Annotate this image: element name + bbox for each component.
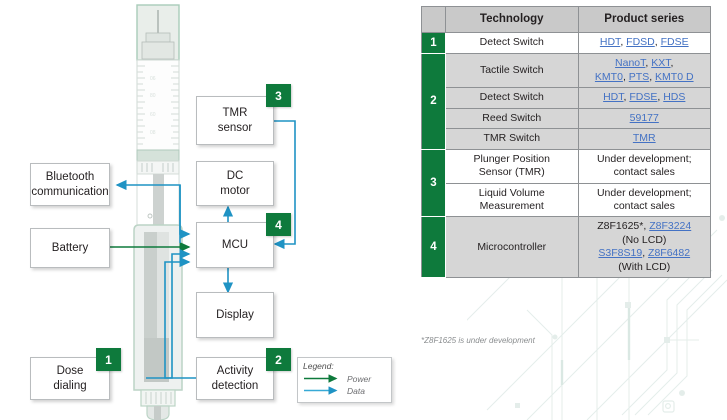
- product-link[interactable]: HDT: [600, 36, 620, 48]
- legend-title: Legend:: [303, 362, 386, 371]
- block-bluetooth-line1: Bluetooth: [31, 170, 108, 184]
- block-dc-motor[interactable]: DC motor: [196, 161, 274, 206]
- system-block-diagram: 0680 6008: [0, 0, 410, 420]
- block-activity-line1: Activity: [212, 364, 259, 378]
- product-link[interactable]: PTS: [629, 71, 649, 83]
- legend-label-power: Power: [347, 374, 371, 384]
- header-technology: Technology: [446, 7, 579, 33]
- product-series-cell: Under development;contact sales: [578, 183, 711, 217]
- table-footnote: *Z8F1625 is under development: [421, 336, 535, 345]
- technology-cell: Reed Switch: [446, 108, 579, 128]
- badge-3: 3: [266, 84, 291, 107]
- badge-1: 1: [96, 348, 121, 371]
- badge-3-label: 3: [275, 89, 282, 103]
- block-mcu-label: MCU: [222, 238, 248, 252]
- block-battery[interactable]: Battery: [30, 228, 110, 268]
- product-series-cell: NanoT, KXT,KMT0, PTS, KMT0 D: [578, 54, 711, 88]
- badge-4: 4: [266, 213, 291, 236]
- power-arrow-icon: [303, 374, 343, 383]
- block-tmr-line2: sensor: [218, 121, 253, 135]
- product-link[interactable]: FDSE: [661, 36, 689, 48]
- page-root: 0680 6008: [0, 0, 727, 420]
- badge-4-label: 4: [275, 218, 282, 232]
- header-number: [422, 7, 446, 33]
- row-number-cell: 3: [422, 149, 446, 217]
- row-number-cell: 2: [422, 54, 446, 149]
- block-bluetooth-line2: communication: [31, 185, 108, 199]
- block-tmr-line1: TMR: [218, 106, 253, 120]
- technology-cell: Detect Switch: [446, 32, 579, 54]
- block-dcmotor-line2: motor: [220, 184, 249, 198]
- table-row: 4MicrocontrollerZ8F1625*, Z8F3224(No LCD…: [422, 217, 711, 278]
- block-activity-line2: detection: [212, 379, 259, 393]
- technology-product-table: Technology Product series 1Detect Switch…: [421, 6, 711, 278]
- product-link[interactable]: TMR: [633, 132, 656, 144]
- product-link[interactable]: FDSD: [626, 36, 655, 48]
- block-tmr-sensor[interactable]: TMR sensor: [196, 96, 274, 145]
- data-arrow-icon: [303, 386, 343, 395]
- product-link[interactable]: FDSE: [629, 91, 657, 103]
- block-mcu[interactable]: MCU: [196, 222, 274, 268]
- technology-cell: Tactile Switch: [446, 54, 579, 88]
- header-product-series: Product series: [578, 7, 711, 33]
- table-row: TMR SwitchTMR: [422, 129, 711, 149]
- technology-cell: Plunger PositionSensor (TMR): [446, 149, 579, 183]
- legend: Legend: Power Data: [297, 357, 392, 403]
- product-link[interactable]: 59177: [630, 112, 659, 124]
- product-link[interactable]: KMT0 D: [655, 71, 694, 83]
- block-bluetooth-communication[interactable]: Bluetooth communication: [30, 163, 110, 206]
- product-series-cell: 59177: [578, 108, 711, 128]
- badge-1-label: 1: [105, 353, 112, 367]
- block-dcmotor-line1: DC: [220, 169, 249, 183]
- technology-cell: Microcontroller: [446, 217, 579, 278]
- product-series-cell: HDT, FDSD, FDSE: [578, 32, 711, 54]
- product-link[interactable]: KMT0: [595, 71, 623, 83]
- product-series-cell: Z8F1625*, Z8F3224(No LCD)S3F8S19, Z8F648…: [578, 217, 711, 278]
- block-dose-line1: Dose: [53, 364, 86, 378]
- technology-cell: Liquid VolumeMeasurement: [446, 183, 579, 217]
- technology-cell: TMR Switch: [446, 129, 579, 149]
- block-battery-label: Battery: [52, 241, 88, 255]
- product-link[interactable]: Z8F6482: [648, 247, 690, 259]
- product-link[interactable]: HDS: [663, 91, 685, 103]
- product-series-cell: HDT, FDSE, HDS: [578, 88, 711, 108]
- block-display-label: Display: [216, 308, 254, 322]
- badge-2-label: 2: [275, 353, 282, 367]
- product-link[interactable]: NanoT: [615, 57, 645, 69]
- badge-2: 2: [266, 348, 291, 371]
- product-link[interactable]: Z8F3224: [649, 220, 691, 232]
- product-series-cell: Under development;contact sales: [578, 149, 711, 183]
- table-row: Detect SwitchHDT, FDSE, HDS: [422, 88, 711, 108]
- product-link[interactable]: KXT: [651, 57, 670, 69]
- table-header-row: Technology Product series: [422, 7, 711, 33]
- table-body: 1Detect SwitchHDT, FDSD, FDSE2Tactile Sw…: [422, 32, 711, 277]
- product-link[interactable]: HDT: [603, 91, 623, 103]
- table-row: 1Detect SwitchHDT, FDSD, FDSE: [422, 32, 711, 54]
- block-activity-detection[interactable]: Activity detection: [196, 357, 274, 400]
- table-row: Liquid VolumeMeasurementUnder developmen…: [422, 183, 711, 217]
- table-row: 2Tactile SwitchNanoT, KXT,KMT0, PTS, KMT…: [422, 54, 711, 88]
- table-row: 3Plunger PositionSensor (TMR)Under devel…: [422, 149, 711, 183]
- legend-entry-data: Data: [303, 385, 386, 397]
- block-display[interactable]: Display: [196, 292, 274, 338]
- product-table: Technology Product series 1Detect Switch…: [421, 6, 711, 278]
- technology-cell: Detect Switch: [446, 88, 579, 108]
- legend-label-data: Data: [347, 386, 365, 396]
- legend-entry-power: Power: [303, 373, 386, 385]
- row-number-cell: 4: [422, 217, 446, 278]
- product-series-cell: TMR: [578, 129, 711, 149]
- block-dose-line2: dialing: [53, 379, 86, 393]
- table-row: Reed Switch59177: [422, 108, 711, 128]
- product-link[interactable]: S3F8S19: [598, 247, 642, 259]
- row-number-cell: 1: [422, 32, 446, 54]
